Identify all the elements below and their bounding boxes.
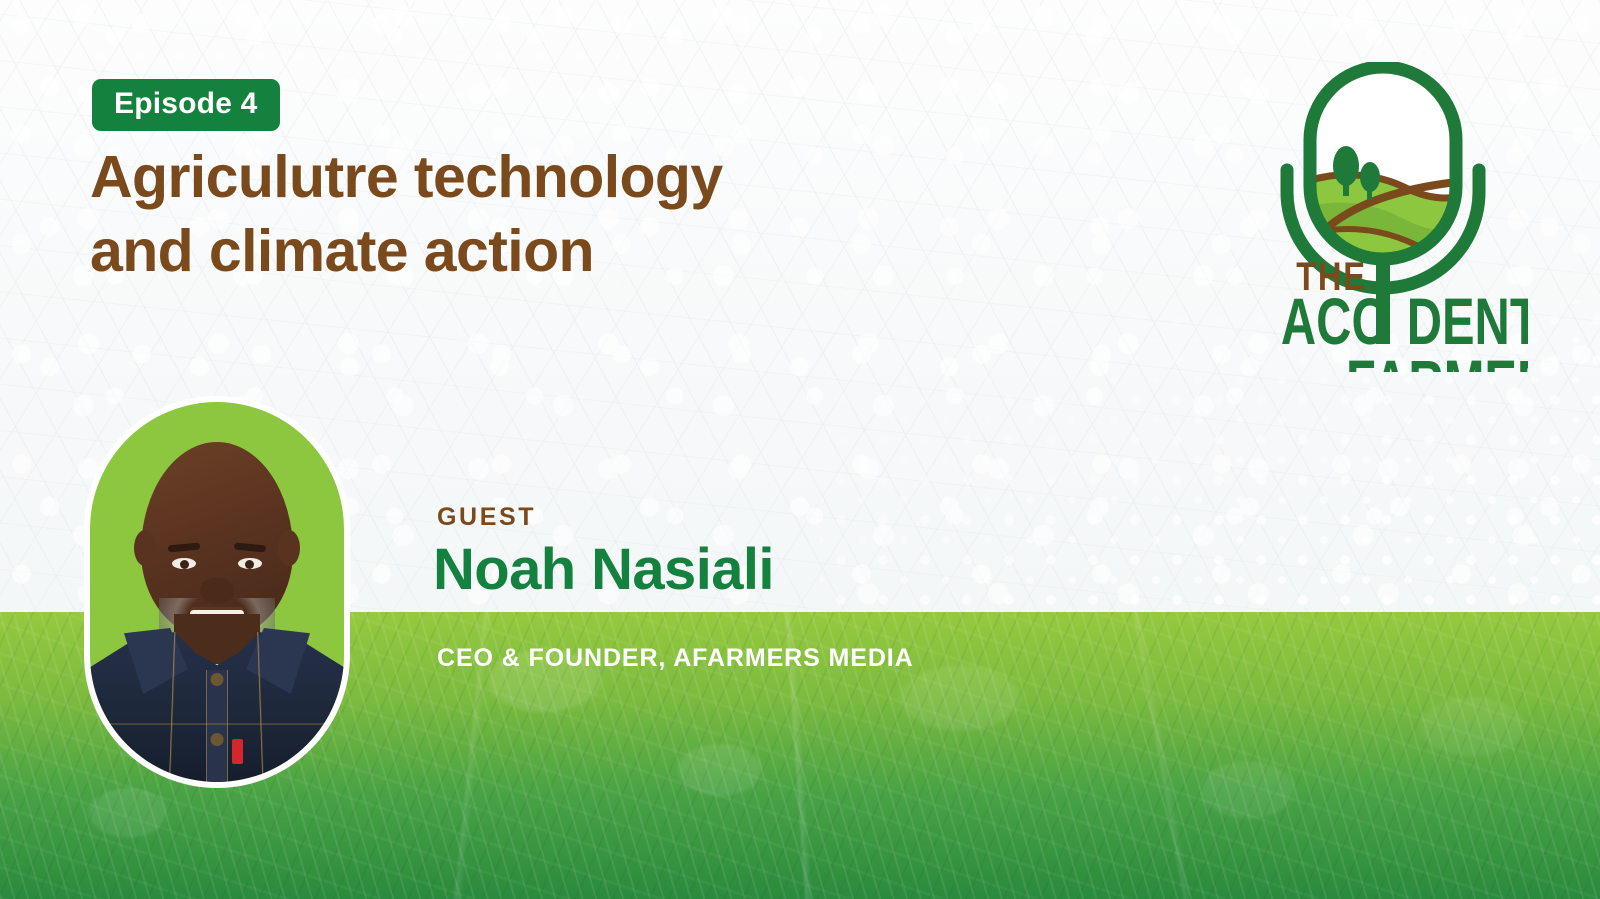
portrait-pupil-right xyxy=(245,560,254,569)
episode-title-line-2: and climate action xyxy=(90,214,990,288)
guest-portrait-photo xyxy=(90,402,344,782)
guest-portrait-frame xyxy=(84,396,350,788)
portrait-jacket-button-bottom xyxy=(211,733,224,746)
guest-name: Noah Nasiali xyxy=(433,538,774,602)
episode-badge: Episode 4 xyxy=(92,79,280,131)
portrait-pupil-left xyxy=(180,560,189,569)
logo-text-farmer: FARMER xyxy=(1346,347,1528,372)
portrait-jacket-red-tab xyxy=(232,739,243,764)
podcast-logo-svg: THE DENTAL ACC DENTAL FARMER PODCAST xyxy=(1238,62,1528,372)
portrait-ear-left xyxy=(134,530,156,566)
episode-title: Agriculutre technology and climate actio… xyxy=(90,140,990,289)
portrait-jacket-button-top xyxy=(211,673,224,686)
podcast-logo: THE DENTAL ACC DENTAL FARMER PODCAST xyxy=(1238,62,1528,372)
guest-role: CEO & FOUNDER, AFARMERS MEDIA xyxy=(437,644,914,673)
podcast-episode-card: Episode 4 Agriculutre technology and cli… xyxy=(0,0,1600,899)
portrait-jacket-stitching xyxy=(90,632,344,782)
guest-label: GUEST xyxy=(437,503,536,532)
portrait-ear-right xyxy=(278,530,300,566)
episode-title-line-1: Agriculutre technology xyxy=(90,144,723,210)
microphone-capsule xyxy=(1296,67,1476,272)
